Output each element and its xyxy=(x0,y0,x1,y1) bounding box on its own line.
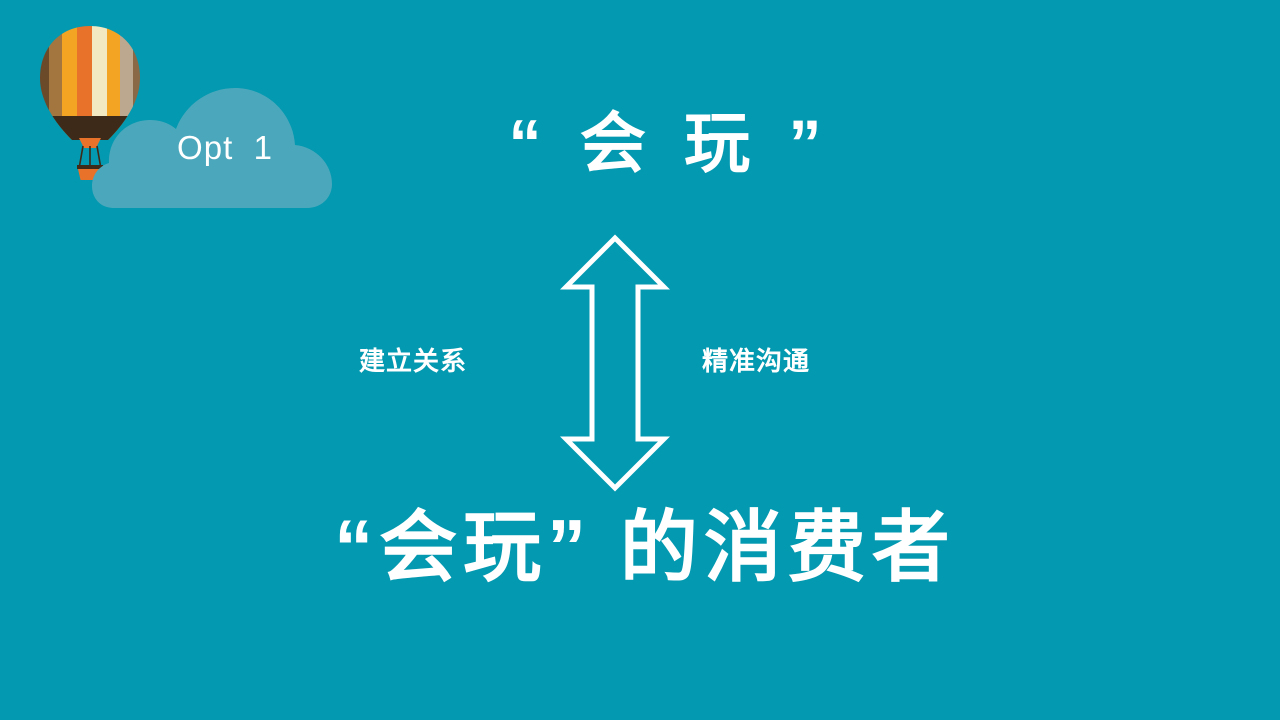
double-headed-vertical-arrow-icon xyxy=(560,232,670,494)
label-right-communication: 精准沟通 xyxy=(702,348,810,374)
page-title-bottom: “会玩” 的消费者 xyxy=(0,505,1280,589)
slide-canvas: Opt 1 “ 会 玩 ” 建立关系 精准沟通 “会玩” 的消费者 xyxy=(0,0,1280,720)
page-title-top: “ 会 玩 ” xyxy=(0,108,1280,179)
label-left-relationship: 建立关系 xyxy=(359,348,467,374)
